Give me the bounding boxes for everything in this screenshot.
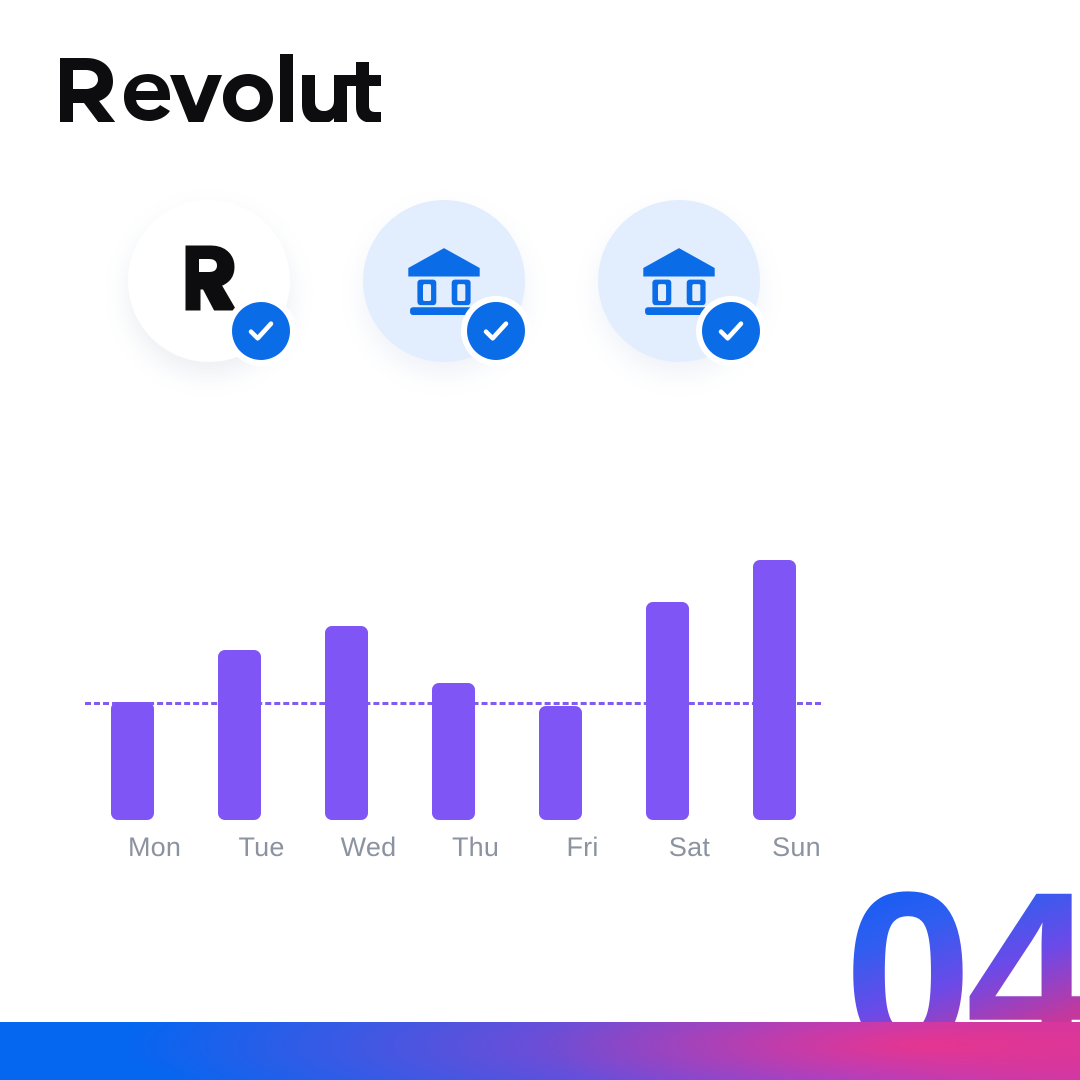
chart-bar [325, 626, 368, 820]
chart-bar [218, 650, 261, 820]
check-icon [715, 315, 747, 347]
chart-x-label: Thu [421, 832, 531, 863]
verified-badge [696, 296, 766, 366]
check-icon [245, 315, 277, 347]
chart-x-label: Tue [207, 832, 317, 863]
footer-gradient-bar [0, 1022, 1080, 1080]
slide-canvas: MonTueWedThuFriSatSun 04 [0, 0, 1080, 1080]
check-icon [480, 315, 512, 347]
weekly-bar-chart: MonTueWedThuFriSatSun [80, 540, 840, 885]
connected-accounts-row [128, 200, 848, 400]
account-badge-bank-1[interactable] [363, 200, 525, 362]
chart-plot-area [80, 540, 840, 825]
chart-x-axis-labels: MonTueWedThuFriSatSun [80, 832, 840, 872]
verified-badge [461, 296, 531, 366]
chart-x-label: Mon [100, 832, 210, 863]
revolut-wordmark [56, 52, 476, 122]
chart-bar [111, 702, 154, 820]
chart-bar [753, 560, 796, 820]
chart-x-label: Wed [314, 832, 424, 863]
chart-x-label: Fri [528, 832, 638, 863]
chart-bar [539, 706, 582, 820]
chart-bar [432, 683, 475, 820]
account-badge-revolut[interactable] [128, 200, 290, 362]
chart-bar [646, 602, 689, 820]
chart-x-label: Sun [742, 832, 852, 863]
account-badge-bank-2[interactable] [598, 200, 760, 362]
verified-badge [226, 296, 296, 366]
chart-x-label: Sat [635, 832, 745, 863]
